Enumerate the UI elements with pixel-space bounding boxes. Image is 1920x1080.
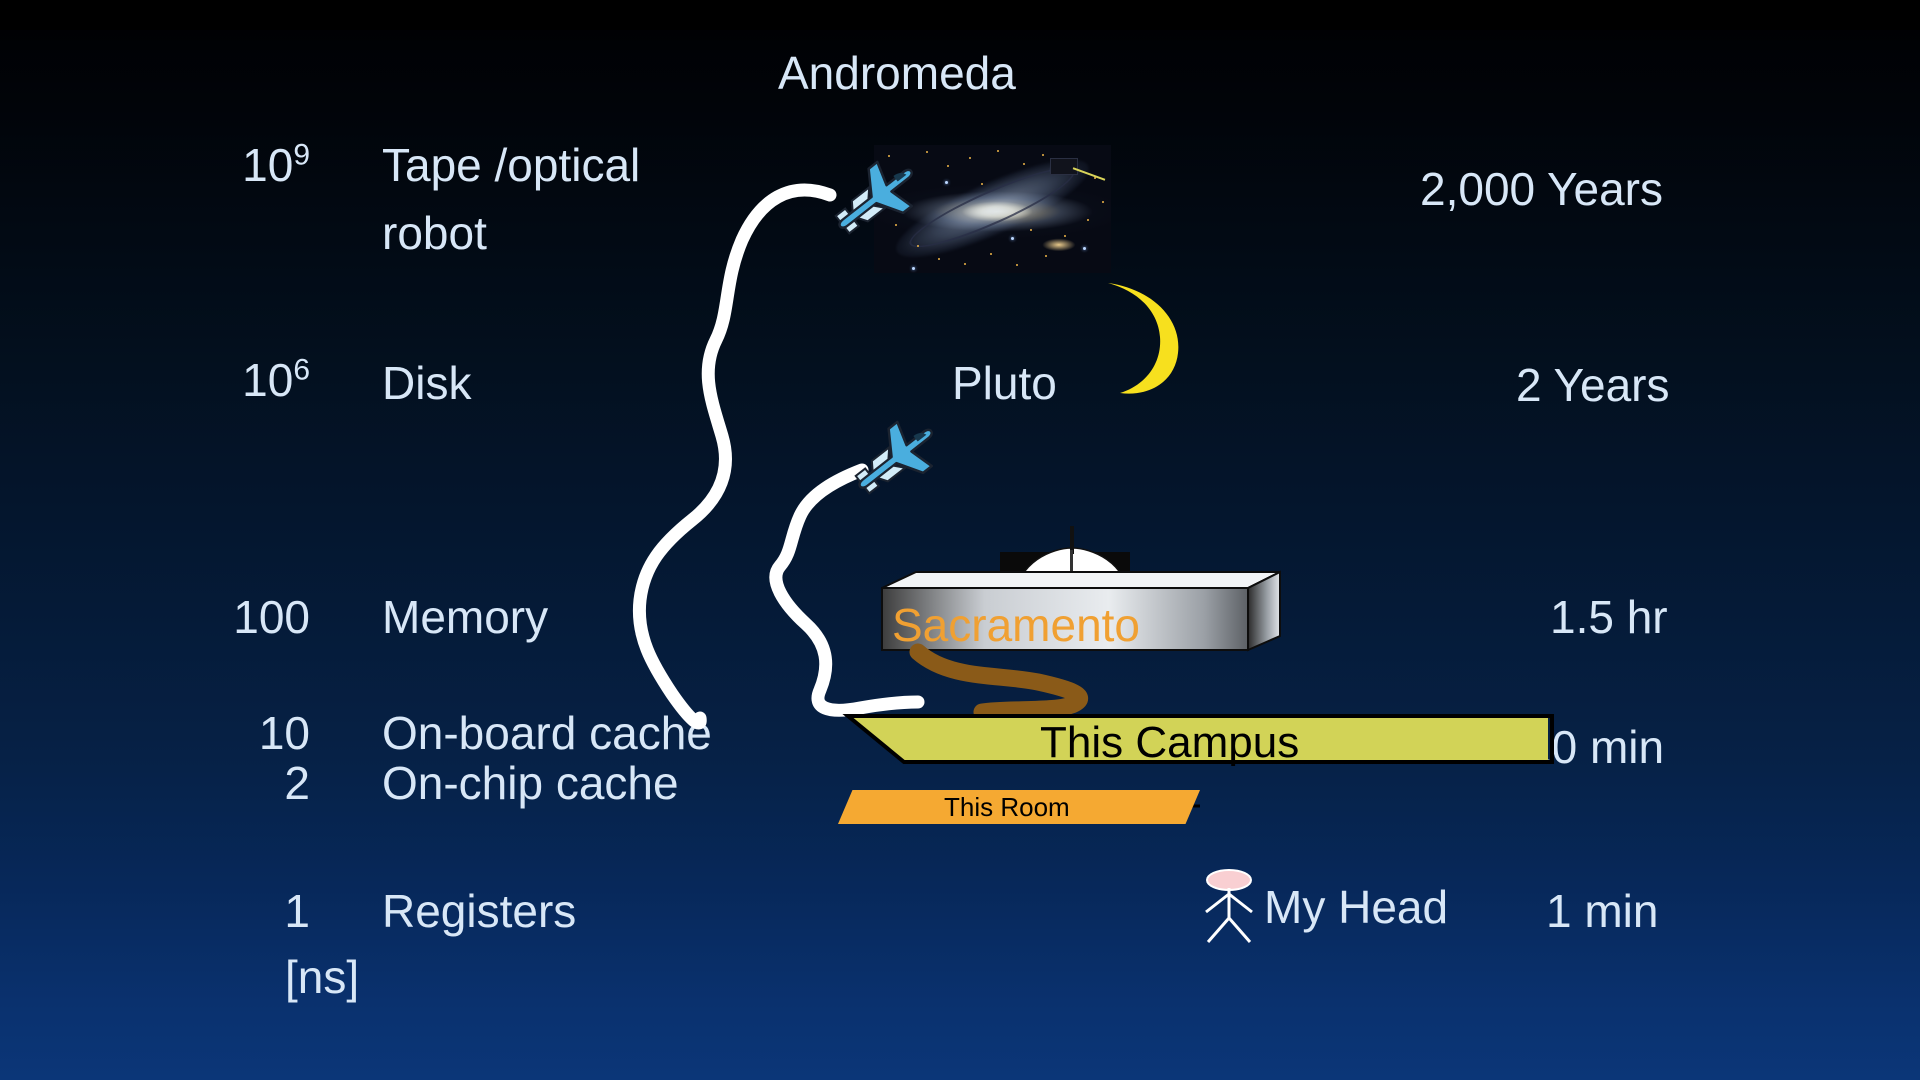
analogy-label-room: This Room — [944, 792, 1070, 823]
contrail-tape — [639, 190, 830, 723]
analogy-label-sacramento: Sacramento — [892, 598, 1140, 652]
capitol-spire — [1070, 526, 1074, 554]
stick-figure-head — [1207, 870, 1251, 890]
airplane-icon — [840, 408, 950, 508]
analogy-label-myhead: My Head — [1264, 880, 1448, 934]
slab-top — [882, 572, 1280, 588]
slide-canvas: 109 106 100 10 2 1 [ns] Tape /optical ro… — [0, 0, 1920, 1080]
river-shape — [918, 652, 1080, 712]
airplane-icon — [820, 148, 930, 248]
stick-figure-icon — [1198, 868, 1260, 946]
analogy-label-campus: This Campus — [1040, 718, 1299, 768]
